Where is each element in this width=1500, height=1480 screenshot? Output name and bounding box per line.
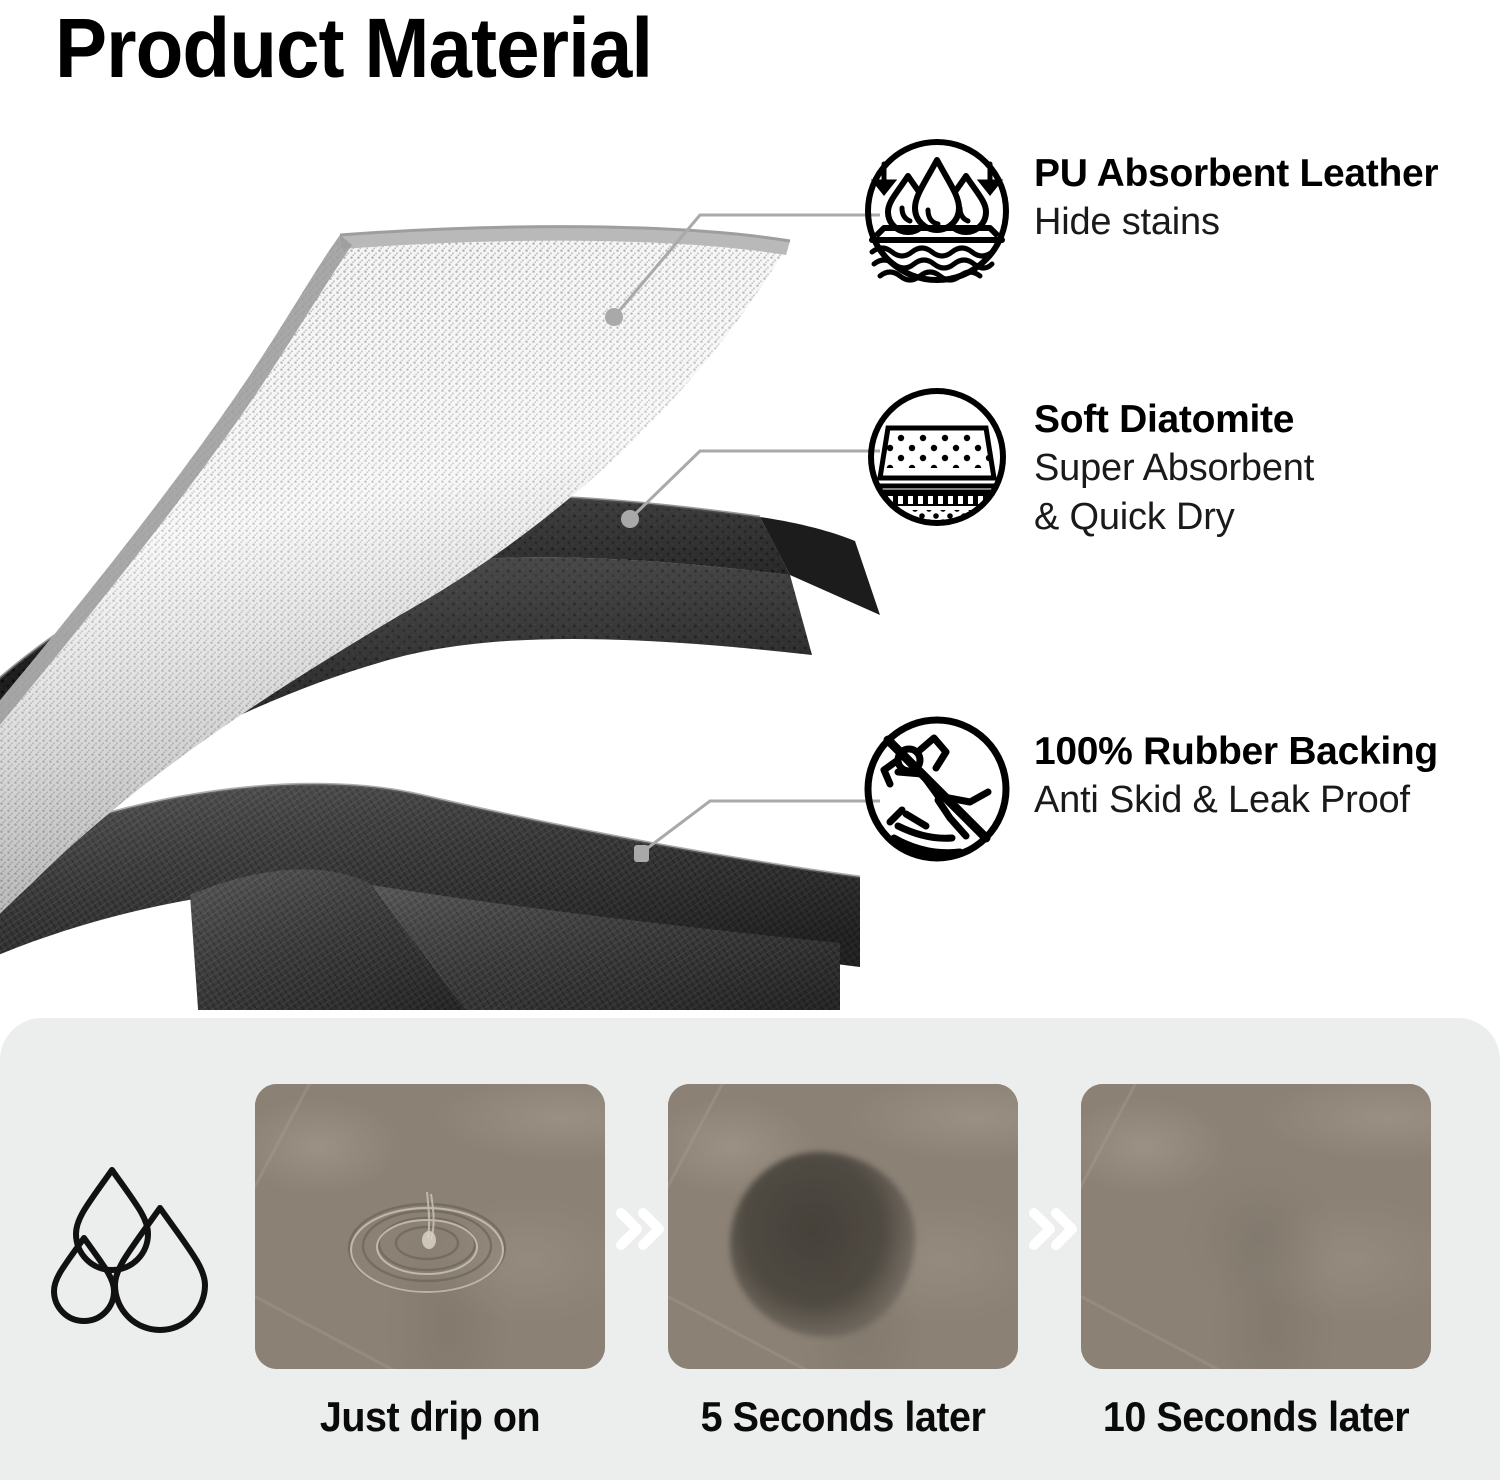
feature-text-block: 100% Rubber Backing Anti Skid & Leak Pro… (1034, 714, 1438, 825)
demo-step-caption: 5 Seconds later (679, 1392, 1008, 1442)
demo-step-caption: 10 Seconds later (1092, 1392, 1421, 1442)
water-drops-icon (50, 1160, 235, 1345)
feature-callout-soft-diatomite: Soft Diatomite Super Absorbent & Quick D… (862, 382, 1314, 542)
demo-step-image (668, 1084, 1018, 1369)
feature-text-block: PU Absorbent Leather Hide stains (1034, 136, 1438, 247)
page-title: Product Material (55, 2, 652, 94)
product-layers-illustration (0, 95, 880, 1010)
water-absorb-icon (862, 136, 1012, 286)
feature-description-line: & Quick Dry (1034, 493, 1314, 542)
feature-description-line: Super Absorbent (1034, 444, 1314, 493)
layer-rubber-backing (0, 784, 860, 1010)
feature-description-line: Anti Skid & Leak Proof (1034, 776, 1438, 825)
double-chevron-right-icon (1026, 1201, 1080, 1257)
water-ripple-splash (327, 1176, 532, 1306)
feature-title: Soft Diatomite (1034, 396, 1314, 444)
demo-step-caption: Just drip on (266, 1392, 595, 1442)
feature-text-block: Soft Diatomite Super Absorbent & Quick D… (1034, 382, 1314, 542)
feature-title: 100% Rubber Backing (1034, 728, 1438, 776)
layered-diatomite-icon (862, 382, 1012, 532)
feature-description-line: Hide stains (1034, 198, 1438, 247)
feature-callout-rubber-backing: 100% Rubber Backing Anti Skid & Leak Pro… (862, 714, 1438, 864)
demo-step-image (1081, 1084, 1431, 1369)
demo-step-image (255, 1084, 605, 1369)
feature-title: PU Absorbent Leather (1034, 150, 1438, 198)
demo-step: Just drip on (255, 1084, 605, 1442)
double-chevron-right-icon (613, 1201, 667, 1257)
demo-step: 10 Seconds later (1081, 1084, 1431, 1442)
no-slip-icon (862, 714, 1012, 864)
residual-dry-spot (1199, 1180, 1319, 1295)
wet-absorption-spot (730, 1152, 915, 1337)
feature-callout-pu-absorbent-leather: PU Absorbent Leather Hide stains (862, 136, 1438, 286)
demo-step: 5 Seconds later (668, 1084, 1018, 1442)
absorption-steps: Just drip on 5 Seconds later 10 Seconds … (245, 1084, 1485, 1454)
